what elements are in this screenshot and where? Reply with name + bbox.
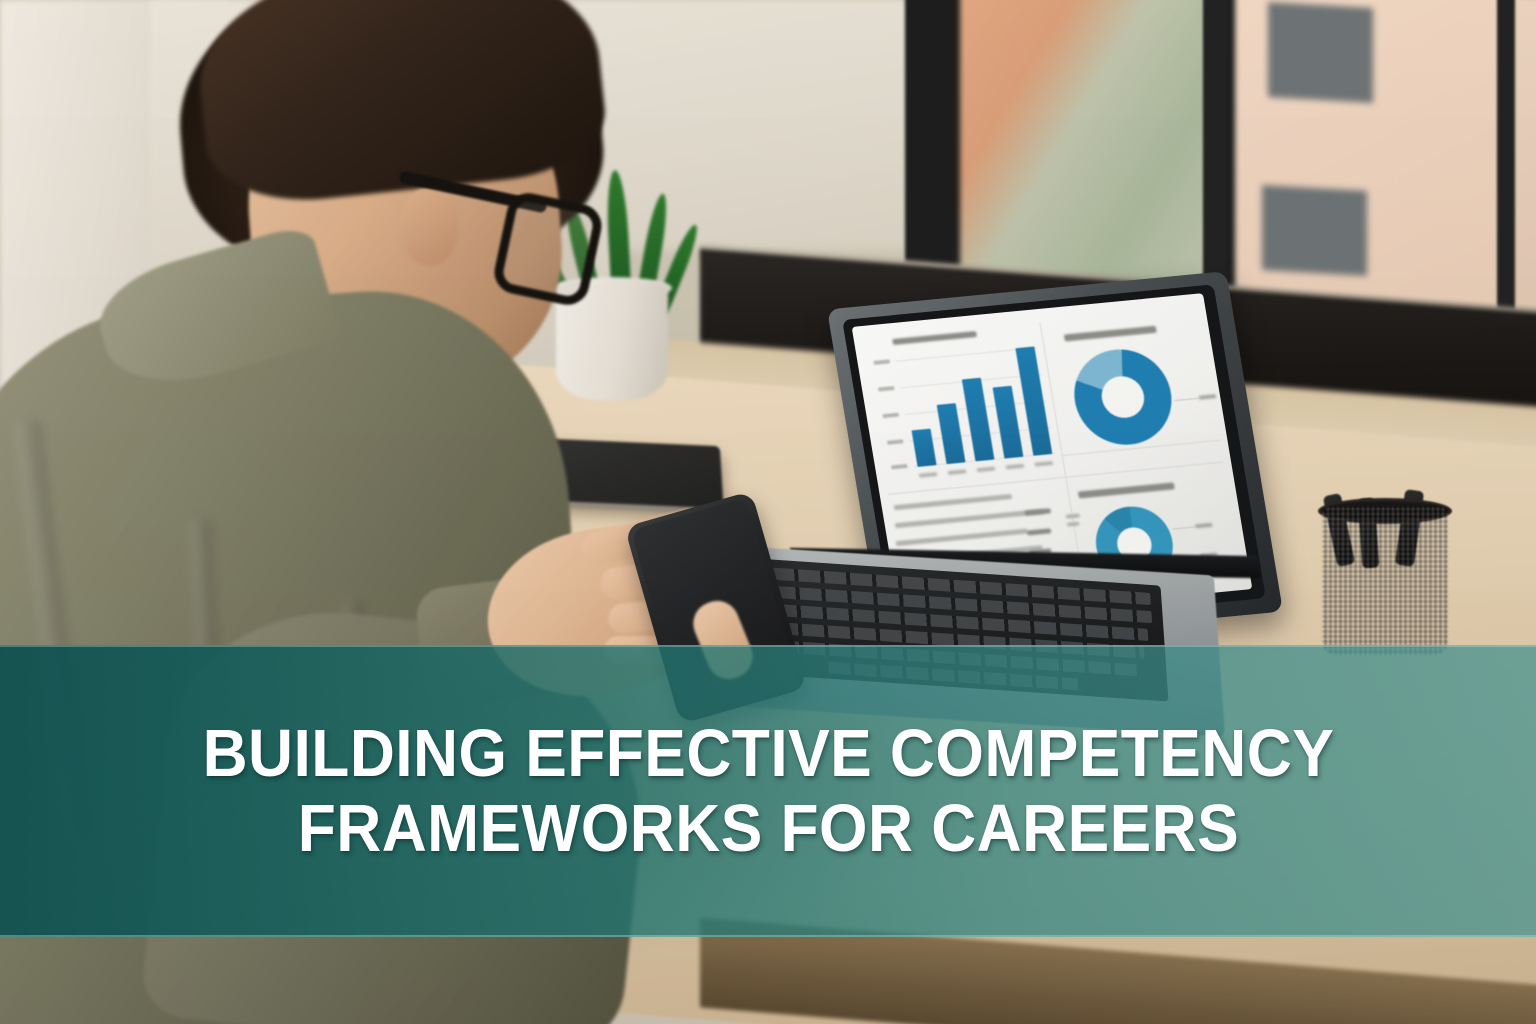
title-line-2: FRAMEWORKS FOR CAREERS: [202, 791, 1334, 866]
page-title: BUILDING EFFECTIVE COMPETENCY FRAMEWORKS…: [202, 716, 1334, 866]
title-line-1: BUILDING EFFECTIVE COMPETENCY: [202, 716, 1334, 791]
bar-1: [912, 429, 937, 467]
bar-4: [993, 386, 1024, 459]
donut-chart-primary-title: [1064, 326, 1157, 342]
bar-chart-title: [892, 331, 977, 345]
donut-chart-secondary-title: [1078, 482, 1175, 498]
pen-holder-mesh: [1322, 507, 1448, 655]
banner-top-rule: [0, 645, 1536, 647]
title-banner: BUILDING EFFECTIVE COMPETENCY FRAMEWORKS…: [0, 645, 1536, 937]
window-pane-left: [960, 0, 1215, 312]
banner-bottom-rule: [0, 935, 1536, 937]
bar-3: [962, 378, 995, 462]
hero-image: BUILDING EFFECTIVE COMPETENCY FRAMEWORKS…: [0, 0, 1536, 1024]
ear: [400, 188, 458, 266]
dashboard-divider-horizontal-left: [888, 462, 1223, 495]
exterior-building-window-upper: [1268, 2, 1373, 103]
exterior-building-window-lower: [1262, 185, 1367, 276]
bar-2: [937, 403, 966, 464]
bar-chart: [888, 345, 1056, 468]
